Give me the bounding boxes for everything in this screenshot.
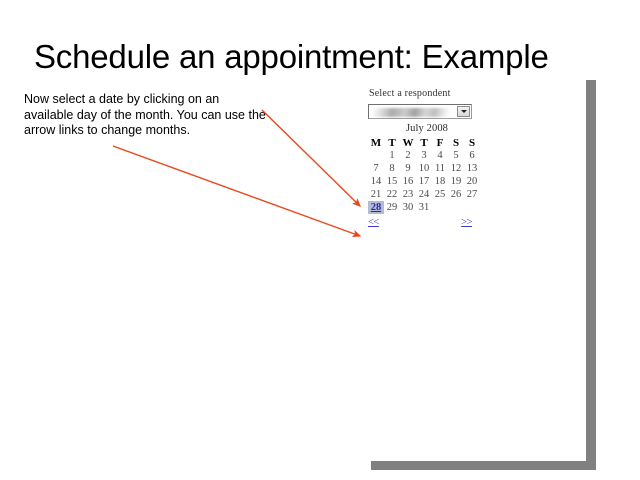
calendar-day-link[interactable]: 17 (419, 176, 430, 187)
respondent-selected-value (372, 108, 450, 117)
calendar-day[interactable]: 18 (432, 175, 448, 188)
calendar-day[interactable]: 24 (416, 188, 432, 201)
calendar-day-link[interactable]: 21 (371, 189, 382, 200)
calendar-day[interactable]: 3 (416, 149, 432, 162)
calendar-day-link[interactable]: 14 (371, 176, 382, 187)
calendar-day[interactable]: 27 (464, 188, 480, 201)
calendar-day[interactable]: 2 (400, 149, 416, 162)
appointment-widget: Select a respondent July 2008 M T W T F … (368, 88, 480, 228)
calendar-day-link[interactable]: 29 (387, 202, 398, 213)
calendar-day-link[interactable]: 20 (467, 176, 478, 187)
calendar-day[interactable]: 4 (432, 149, 448, 162)
callout-arrow-to-month-nav (113, 146, 360, 236)
calendar-nav: << >> (368, 217, 472, 228)
calendar-day[interactable]: 14 (368, 175, 384, 188)
calendar-day-link[interactable]: 15 (387, 176, 398, 187)
calendar-day-link[interactable]: 12 (451, 163, 462, 174)
calendar-day-link[interactable]: 5 (453, 150, 458, 161)
calendar-table: M T W T F S S 12345678910111213141516171… (368, 136, 480, 214)
respondent-label: Select a respondent (369, 88, 480, 99)
calendar-weekday-row: M T W T F S S (368, 136, 480, 149)
calendar-day[interactable]: 17 (416, 175, 432, 188)
calendar-day[interactable]: 8 (384, 162, 400, 175)
calendar-day-link[interactable]: 13 (467, 163, 478, 174)
calendar-day-link[interactable]: 18 (435, 176, 446, 187)
calendar-day-link[interactable]: 24 (419, 189, 430, 200)
calendar-day-link[interactable]: 9 (405, 163, 410, 174)
calendar-day[interactable]: 5 (448, 149, 464, 162)
calendar-day-empty (432, 201, 448, 214)
calendar-day-link[interactable]: 28 (371, 202, 382, 213)
calendar-day-empty (464, 201, 480, 214)
calendar-day-selected[interactable]: 28 (368, 201, 384, 214)
calendar-day-link[interactable]: 3 (421, 150, 426, 161)
calendar-day[interactable]: 26 (448, 188, 464, 201)
calendar-weekday-wed: W (400, 136, 416, 149)
prev-month-link[interactable]: << (368, 217, 379, 228)
calendar-day[interactable]: 30 (400, 201, 416, 214)
calendar-day[interactable]: 1 (384, 149, 400, 162)
next-month-link[interactable]: >> (461, 217, 472, 228)
calendar-day[interactable]: 10 (416, 162, 432, 175)
calendar-day[interactable]: 15 (384, 175, 400, 188)
calendar-day[interactable]: 22 (384, 188, 400, 201)
chevron-down-icon[interactable] (457, 106, 470, 117)
calendar-day[interactable]: 20 (464, 175, 480, 188)
calendar-day[interactable]: 13 (464, 162, 480, 175)
calendar-weekday-mon: M (368, 136, 384, 149)
calendar-day-link[interactable]: 30 (403, 202, 414, 213)
calendar-day[interactable]: 16 (400, 175, 416, 188)
calendar-week-row: 14151617181920 (368, 175, 480, 188)
calendar-day-link[interactable]: 16 (403, 176, 414, 187)
screenshot-shadow-right (586, 80, 596, 462)
slide-canvas: Schedule an appointment: Example Now sel… (0, 0, 640, 480)
calendar-day[interactable]: 12 (448, 162, 464, 175)
page-title: Schedule an appointment: Example (34, 38, 614, 76)
respondent-select[interactable] (368, 104, 472, 119)
calendar-day[interactable]: 21 (368, 188, 384, 201)
calendar-day[interactable]: 19 (448, 175, 464, 188)
screenshot-shadow-bottom (371, 461, 596, 470)
calendar-day-link[interactable]: 31 (419, 202, 430, 213)
calendar-weekday-thu: T (416, 136, 432, 149)
calendar-weekday-sun: S (464, 136, 480, 149)
calendar-day[interactable]: 31 (416, 201, 432, 214)
instruction-text: Now select a date by clicking on an avai… (24, 92, 269, 139)
calendar-day[interactable]: 11 (432, 162, 448, 175)
calendar-day-link[interactable]: 4 (437, 150, 442, 161)
calendar-day-link[interactable]: 2 (405, 150, 410, 161)
calendar-day-link[interactable]: 8 (389, 163, 394, 174)
calendar-day[interactable]: 7 (368, 162, 384, 175)
calendar-day-link[interactable]: 25 (435, 189, 446, 200)
calendar-day[interactable]: 29 (384, 201, 400, 214)
chevron-down-glyph (461, 110, 467, 113)
calendar-weekday-sat: S (448, 136, 464, 149)
calendar-day[interactable]: 9 (400, 162, 416, 175)
calendar-day-link[interactable]: 26 (451, 189, 462, 200)
calendar-week-row: 78910111213 (368, 162, 480, 175)
calendar-widget: July 2008 M T W T F S S 1234567891011121… (368, 123, 480, 228)
calendar-day[interactable]: 23 (400, 188, 416, 201)
calendar-day-link[interactable]: 7 (373, 163, 378, 174)
calendar-day-empty (448, 201, 464, 214)
calendar-day-link[interactable]: 6 (469, 150, 474, 161)
calendar-day[interactable]: 6 (464, 149, 480, 162)
callout-arrow-to-selected-day (262, 110, 360, 206)
calendar-weekday-tue: T (384, 136, 400, 149)
calendar-day[interactable]: 25 (432, 188, 448, 201)
calendar-day-link[interactable]: 11 (435, 163, 445, 174)
calendar-day-link[interactable]: 1 (389, 150, 394, 161)
calendar-weekday-fri: F (432, 136, 448, 149)
calendar-month-header: July 2008 (368, 123, 480, 136)
calendar-day-link[interactable]: 22 (387, 189, 398, 200)
calendar-week-row: 21222324252627 (368, 188, 480, 201)
calendar-day-empty (368, 149, 384, 162)
calendar-day-link[interactable]: 23 (403, 189, 414, 200)
calendar-day-link[interactable]: 10 (419, 163, 430, 174)
calendar-week-row: 123456 (368, 149, 480, 162)
calendar-day-link[interactable]: 19 (451, 176, 462, 187)
calendar-day-link[interactable]: 27 (467, 189, 478, 200)
calendar-week-row: 28293031 (368, 201, 480, 214)
calendar-body: 1234567891011121314151617181920212223242… (368, 149, 480, 214)
